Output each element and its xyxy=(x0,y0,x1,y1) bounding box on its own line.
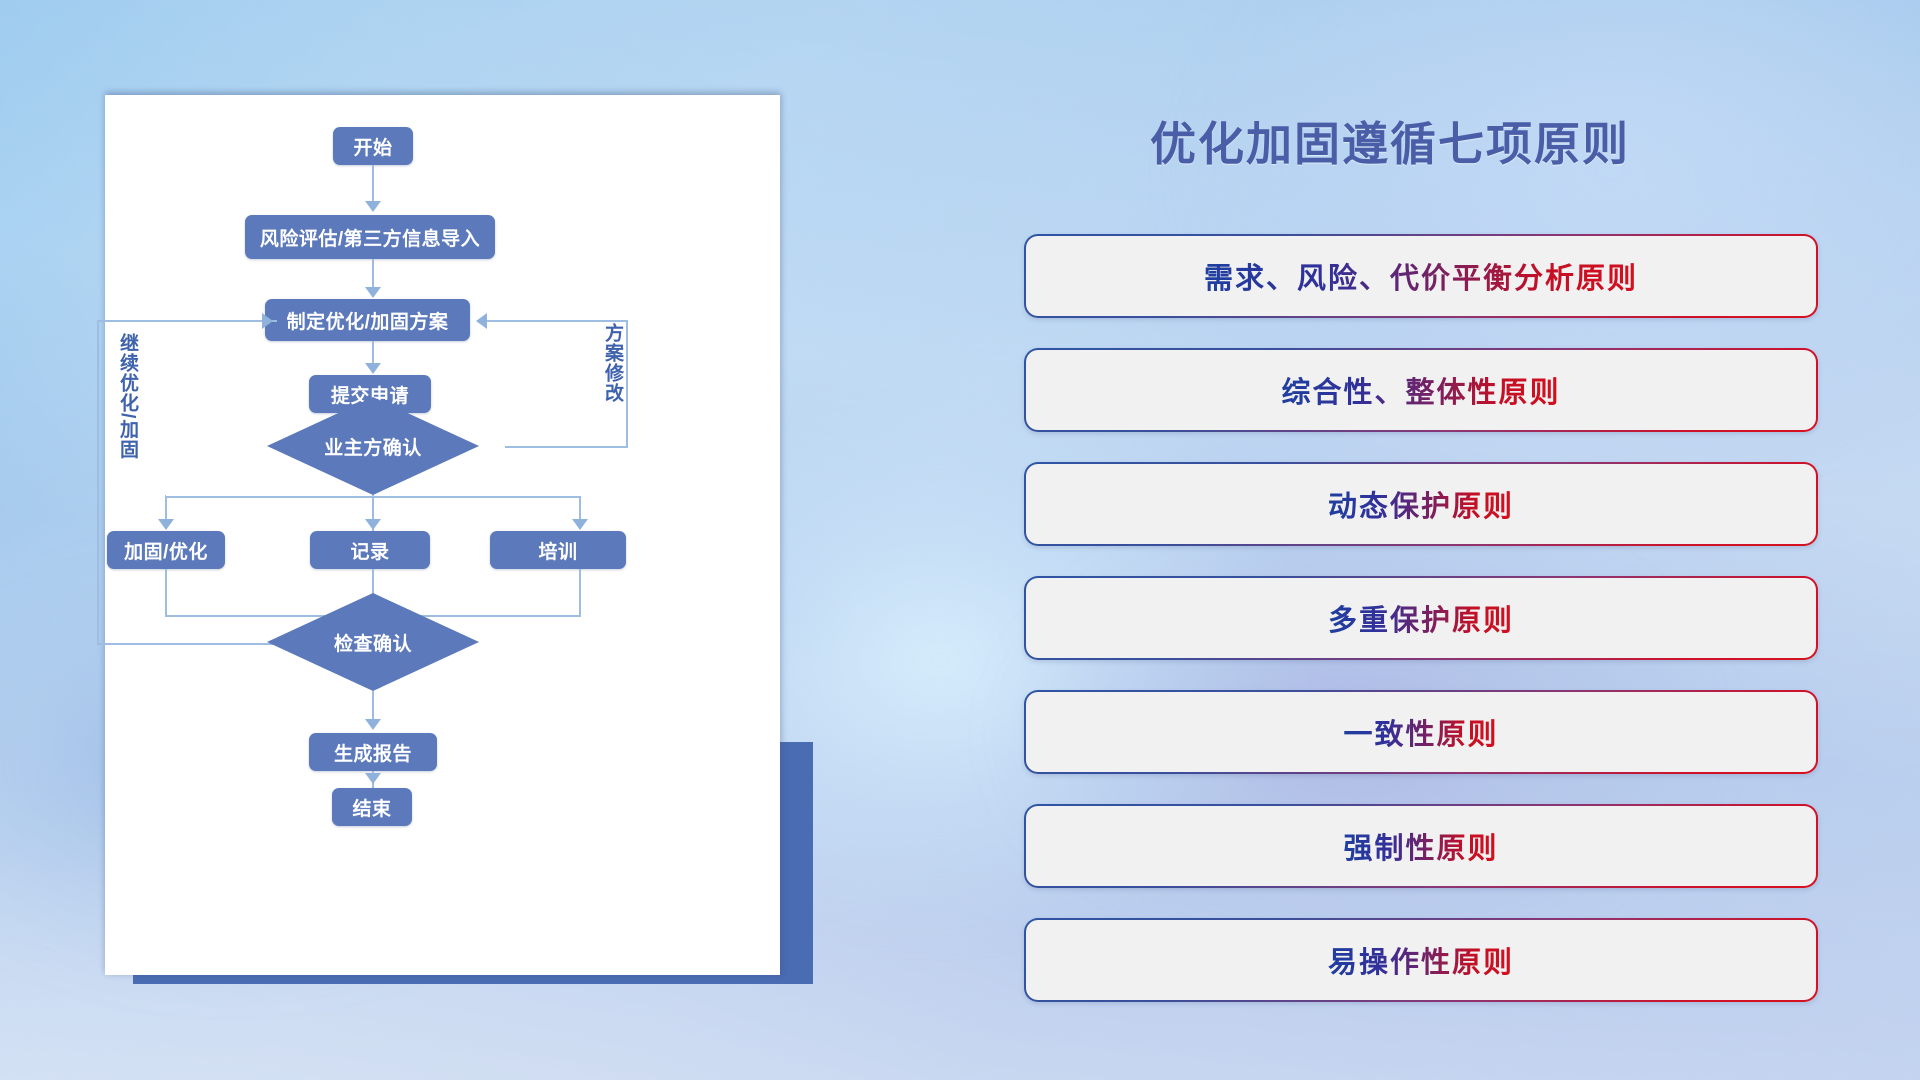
principle-card[interactable]: 易操作性原则 xyxy=(1024,918,1818,1002)
flow-node-training[interactable]: 培训 xyxy=(490,531,626,569)
flowchart-diagram: 开始 风险评估/第三方信息导入 制定优化/加固方案 继续优化/加固 方案修改 xyxy=(105,95,780,975)
arrowhead-loop-left-into-plan xyxy=(262,313,273,329)
principle-card-body: 需求、风险、代价平衡分析原则 xyxy=(1026,236,1816,316)
principle-card[interactable]: 多重保护原则 xyxy=(1024,576,1818,660)
arrowhead-to-record xyxy=(365,519,381,530)
arrowhead-start-to-risk xyxy=(365,201,381,212)
connector-loop-right-bottom xyxy=(505,446,628,448)
flow-node-start[interactable]: 开始 xyxy=(333,127,413,165)
principle-card-body: 多重保护原则 xyxy=(1026,578,1816,658)
principle-card[interactable]: 需求、风险、代价平衡分析原则 xyxy=(1024,234,1818,318)
principle-card-label: 强制性原则 xyxy=(1343,825,1498,867)
flow-node-make-plan[interactable]: 制定优化/加固方案 xyxy=(265,299,470,341)
connector-fanout-horizontal xyxy=(165,496,580,498)
principle-card-label: 动态保护原则 xyxy=(1328,483,1514,525)
connector-merge-left xyxy=(165,569,167,617)
principle-card[interactable]: 强制性原则 xyxy=(1024,804,1818,888)
principle-card[interactable]: 动态保护原则 xyxy=(1024,462,1818,546)
flow-decision-inspection-confirm-label: 检查确认 xyxy=(267,593,479,691)
arrowhead-plan-to-submit xyxy=(365,363,381,374)
principle-card-label: 易操作性原则 xyxy=(1328,939,1514,981)
principle-card-label: 综合性、整体性原则 xyxy=(1281,369,1560,411)
principle-card-label: 需求、风险、代价平衡分析原则 xyxy=(1204,255,1638,297)
connector-merge-right xyxy=(579,569,581,617)
flow-node-record[interactable]: 记录 xyxy=(310,531,430,569)
arrowhead-to-training xyxy=(572,519,588,530)
flow-node-end[interactable]: 结束 xyxy=(332,788,412,826)
flow-edge-label-continue-optimize: 继续优化/加固 xyxy=(117,333,137,459)
flow-node-risk-assessment[interactable]: 风险评估/第三方信息导入 xyxy=(245,215,495,259)
connector-loop-right-vertical xyxy=(626,320,628,448)
connector-loop-left-vertical xyxy=(97,320,99,645)
connector-loop-right-top xyxy=(487,320,628,322)
principles-list: 需求、风险、代价平衡分析原则 综合性、整体性原则 动态保护原则 多重保护原则 一… xyxy=(1024,234,1814,1032)
principle-card[interactable]: 一致性原则 xyxy=(1024,690,1818,774)
connector-start-to-risk xyxy=(372,165,374,205)
principle-card-body: 动态保护原则 xyxy=(1026,464,1816,544)
principle-card[interactable]: 综合性、整体性原则 xyxy=(1024,348,1818,432)
flow-edge-label-plan-revision: 方案修改 xyxy=(602,323,622,403)
panel-title: 优化加固遵循七项原则 xyxy=(1150,108,1630,174)
flow-decision-owner-confirm[interactable]: 业主方确认 xyxy=(267,397,479,495)
connector-loop-left-top xyxy=(97,320,277,322)
slide-canvas: 开始 风险评估/第三方信息导入 制定优化/加固方案 继续优化/加固 方案修改 xyxy=(0,0,1920,1080)
flow-node-reinforce-optimize[interactable]: 加固/优化 xyxy=(107,531,225,569)
flowchart-card: 开始 风险评估/第三方信息导入 制定优化/加固方案 继续优化/加固 方案修改 xyxy=(105,95,780,975)
flow-decision-owner-confirm-label: 业主方确认 xyxy=(267,397,479,495)
flow-decision-inspection-confirm[interactable]: 检查确认 xyxy=(267,593,479,691)
flow-node-generate-report[interactable]: 生成报告 xyxy=(309,733,437,771)
principle-card-body: 一致性原则 xyxy=(1026,692,1816,772)
principle-card-body: 强制性原则 xyxy=(1026,806,1816,886)
arrowhead-to-reinforce xyxy=(158,519,174,530)
principle-card-label: 一致性原则 xyxy=(1343,711,1498,753)
principle-card-label: 多重保护原则 xyxy=(1328,597,1514,639)
arrowhead-report-to-end xyxy=(365,773,381,784)
principle-card-body: 易操作性原则 xyxy=(1026,920,1816,1000)
arrowhead-risk-to-plan xyxy=(365,287,381,298)
principle-card-body: 综合性、整体性原则 xyxy=(1026,350,1816,430)
arrowhead-inspection-to-report xyxy=(365,719,381,730)
arrowhead-loop-right-into-plan xyxy=(476,313,487,329)
